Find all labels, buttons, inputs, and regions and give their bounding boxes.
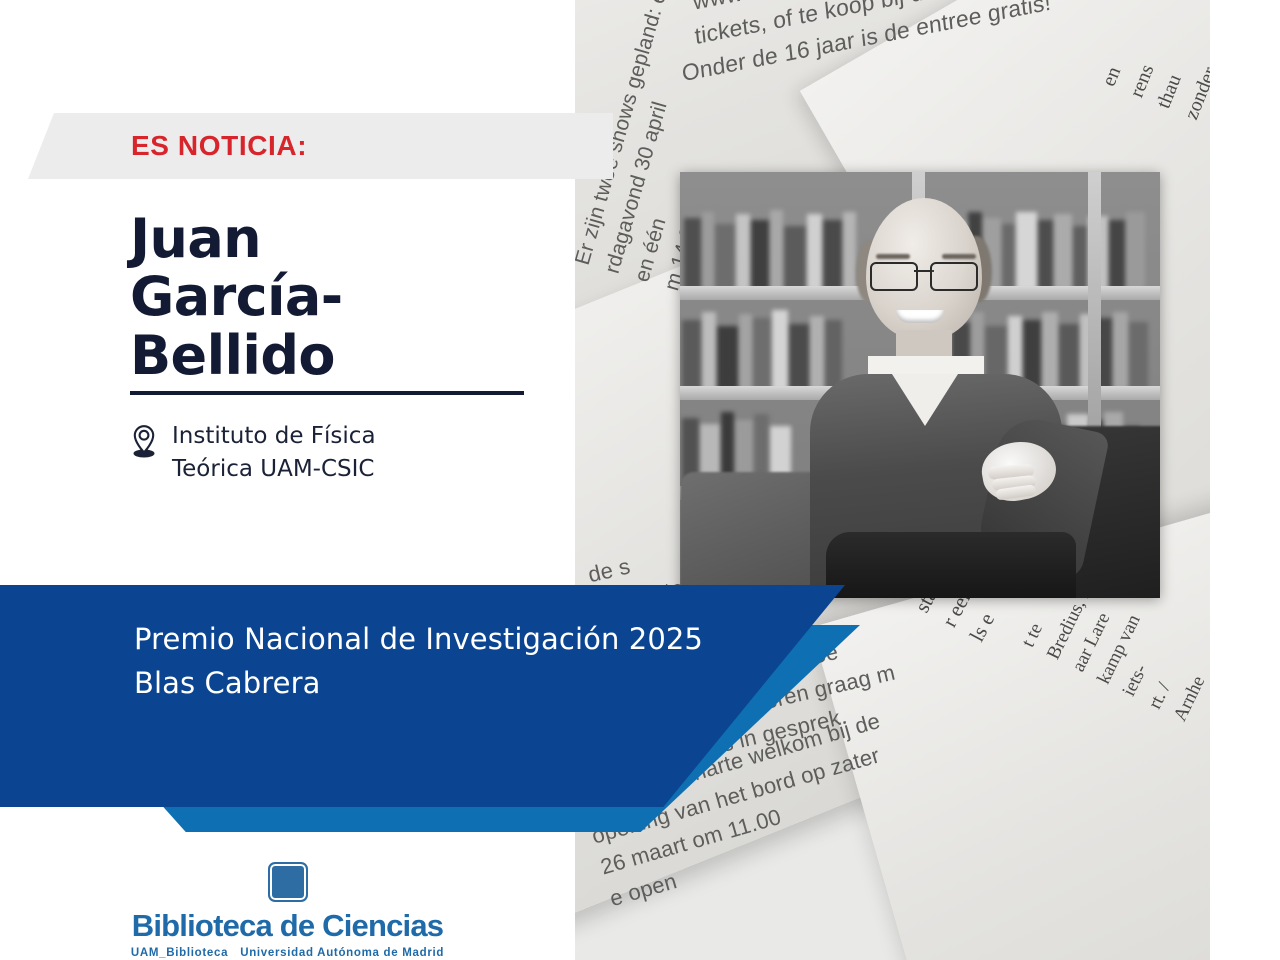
eyeglasses (870, 262, 978, 288)
affiliation-text: Instituto de Física Teórica UAM-CSIC (172, 420, 376, 485)
kicker-label: ES NOTICIA: (131, 130, 307, 162)
trousers-lap (826, 532, 1076, 598)
affiliation: Instituto de Física Teórica UAM-CSIC (130, 420, 376, 485)
person-figure (792, 196, 1092, 598)
news-poster: kop koffie, zijn online verkrijgbaar via… (0, 0, 1280, 960)
logo-subtitle: UAM_BibliotecaUniversidad Autónoma de Ma… (131, 947, 444, 959)
page-title: Juan García- Bellido (130, 210, 550, 385)
logo-title: Biblioteca de Ciencias (132, 908, 443, 944)
smiling-mouth (896, 310, 944, 323)
title-divider (130, 391, 524, 395)
award-text: Premio Nacional de Investigación 2025 Bl… (134, 617, 703, 705)
logo-university: Universidad Autónoma de Madrid (240, 947, 444, 959)
kicker-band: ES NOTICIA: (28, 113, 613, 179)
logo-handle: UAM_Biblioteca (131, 947, 228, 959)
book-square-icon (268, 862, 308, 902)
eyebrow (876, 254, 910, 259)
location-pin-icon (130, 424, 158, 463)
portrait-photo (680, 172, 1160, 598)
right-white-margin (1210, 0, 1280, 960)
eyebrow (942, 254, 976, 259)
biblioteca-logo: Biblioteca de Ciencias UAM_BibliotecaUni… (0, 862, 575, 959)
